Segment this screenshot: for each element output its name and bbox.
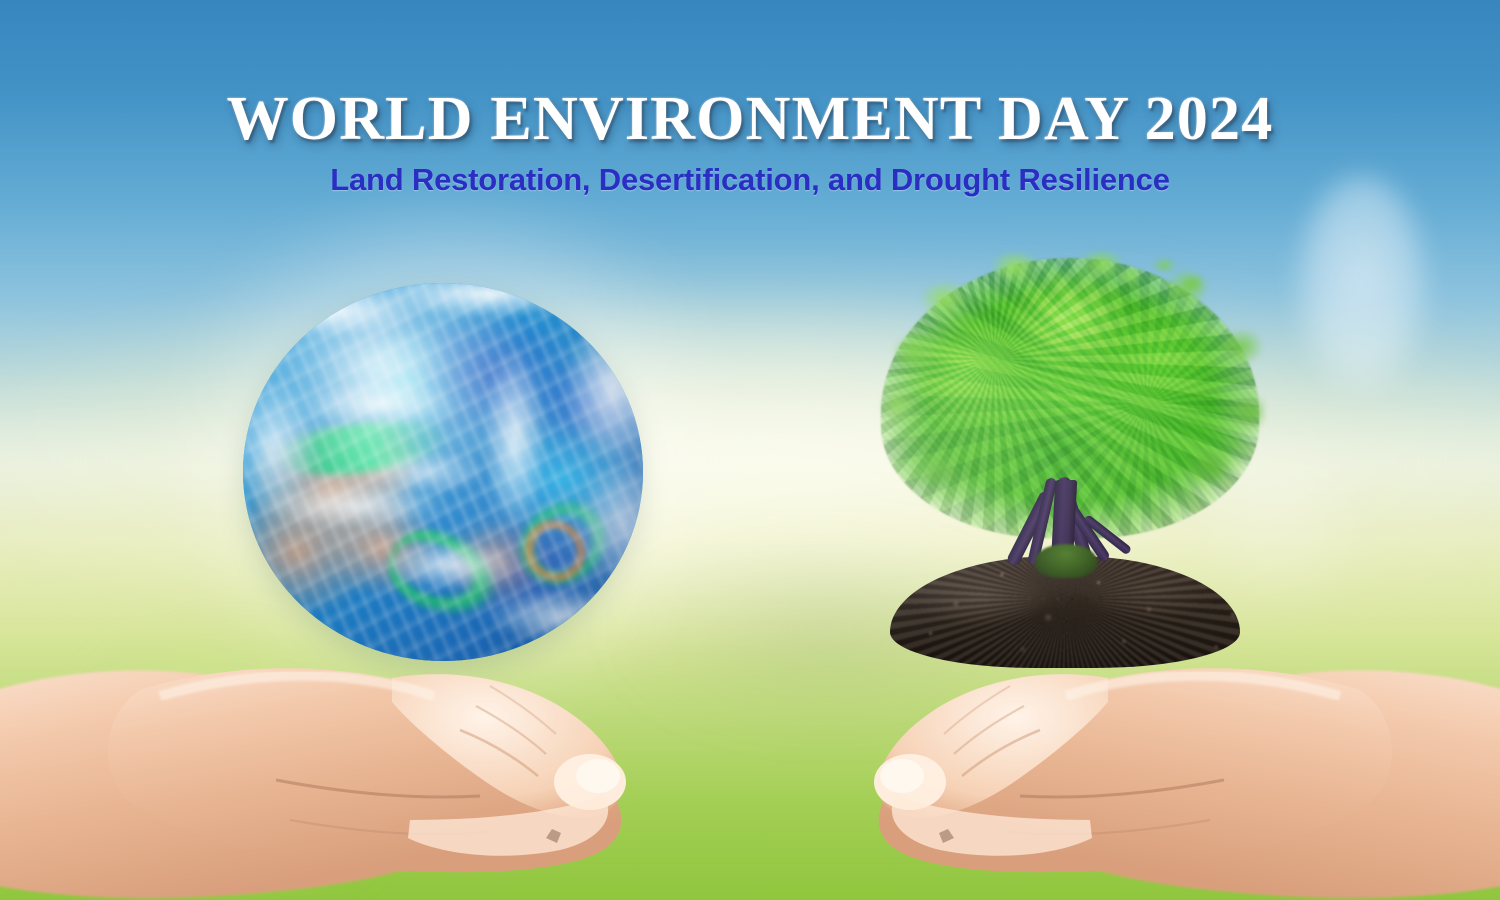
left-hand-illustration	[0, 520, 690, 900]
left-fingernail	[576, 759, 620, 793]
light-bokeh-icon	[1296, 176, 1428, 391]
headline-block: WORLD ENVIRONMENT DAY 2024 Land Restorat…	[0, 88, 1500, 197]
left-cupped-hand	[0, 520, 690, 900]
right-cupped-hand	[810, 520, 1500, 900]
page-subtitle: Land Restoration, Desertification, and D…	[0, 163, 1500, 197]
page-title: WORLD ENVIRONMENT DAY 2024	[0, 88, 1500, 151]
right-fingernail	[880, 759, 924, 793]
right-hand-illustration	[810, 520, 1500, 900]
tree-canopy-sparse-branch	[1105, 252, 1215, 312]
poster-canvas: WORLD ENVIRONMENT DAY 2024 Land Restorat…	[0, 0, 1500, 900]
